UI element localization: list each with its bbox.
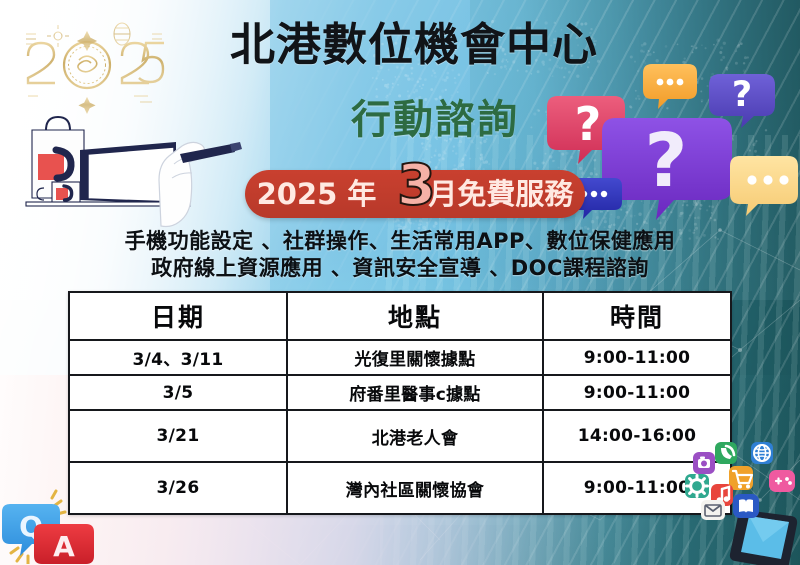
globe-icon [751,442,773,464]
column-header-time: 時間 [543,292,731,340]
cell-time: 9:00-11:00 [543,375,731,410]
table-row: 3/21 北港老人會 14:00-16:00 [69,410,731,462]
cell-place: 光復里關懷據點 [287,340,543,375]
badge-month-number: 3 [397,158,436,214]
yellow-dots-bubble [730,156,798,216]
game-icon [769,470,795,492]
page-title: 北港數位機會中心 [0,18,800,72]
cell-place: 灣內社區關懷協會 [287,462,543,514]
table-row: 3/26 灣內社區關懷協會 9:00-11:00 [69,462,731,514]
cell-time: 9:00-11:00 [543,340,731,375]
badge-suffix: 月免費服務 [428,180,573,209]
app-icon-cluster [675,440,800,565]
column-header-place: 地點 [287,292,543,340]
a-bubble: A [34,524,94,564]
service-list: 手機功能設定 、社群操作、生活常用APP、數位保健應用 政府線上資源應用 、資訊… [0,228,800,282]
qa-bubble-group: Q A [2,482,107,564]
cell-date: 3/21 [69,410,287,462]
cell-date: 3/4、3/11 [69,340,287,375]
book-icon [733,494,759,518]
table-header-row: 日期 地點 時間 [69,292,731,340]
gear-icon [685,474,709,498]
mail-icon [701,500,725,520]
cell-place: 北港老人會 [287,410,543,462]
service-line-2: 政府線上資源應用 、資訊安全宣導 、DOC課程諮詢 [0,255,800,282]
page-subtitle: 行動諮詢 [0,96,800,144]
cell-date: 3/5 [69,375,287,410]
badge-prefix: 2025 年 [257,180,377,209]
column-header-date: 日期 [69,292,287,340]
smartphone-device [730,510,797,565]
free-service-badge: 2025 年 月免費服務 3 [245,170,585,218]
cart-icon [729,466,753,490]
svg-text:A: A [53,530,75,563]
table-row: 3/4、3/11 光復里關懷據點 9:00-11:00 [69,340,731,375]
schedule-table: 日期 地點 時間 3/4、3/11 光復里關懷據點 9:00-11:00 3/5… [68,291,732,515]
service-line-1: 手機功能設定 、社群操作、生活常用APP、數位保健應用 [0,228,800,255]
table-row: 3/5 府番里醫事c據點 9:00-11:00 [69,375,731,410]
poster-canvas: ? ? ? 北港數位機會中心 行動諮詢 2025 年 [0,0,800,565]
cell-place: 府番里醫事c據點 [287,375,543,410]
camera-icon [693,452,715,474]
phone-icon [715,442,737,464]
